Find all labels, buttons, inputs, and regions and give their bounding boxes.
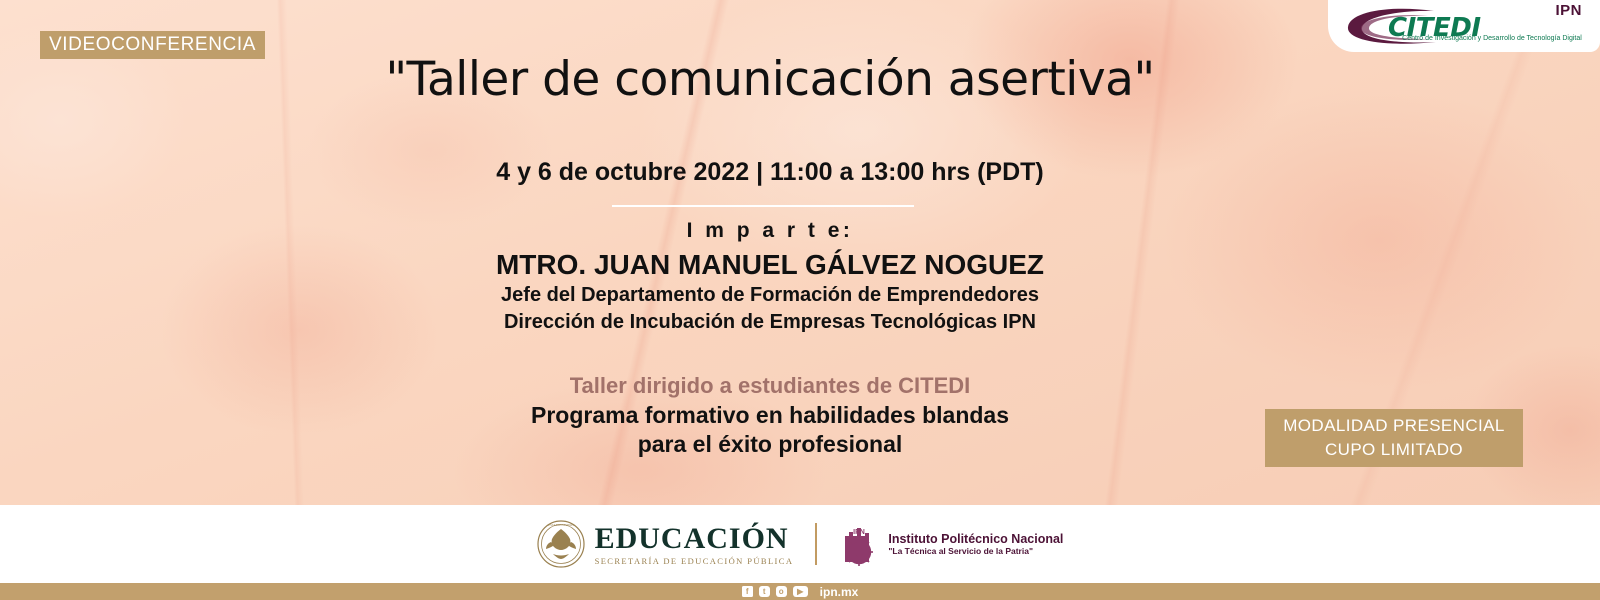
page-title: "Taller de comunicación asertiva" xyxy=(0,52,1540,107)
ipn-logo: IPN Instituto Politécnico Nacional "La T… xyxy=(839,522,1063,566)
youtube-icon[interactable]: ▶ xyxy=(793,586,808,597)
speaker-name: MTRO. JUAN MANUEL GÁLVEZ NOGUEZ xyxy=(0,249,1540,281)
instagram-icon[interactable]: o xyxy=(776,586,787,597)
mexican-eagle-seal-icon: ESTADOS UNIDOS xyxy=(537,520,585,568)
modality-line1: MODALIDAD PRESENCIAL xyxy=(1283,414,1505,438)
twitter-icon[interactable]: t xyxy=(759,586,770,597)
svg-text:IPN: IPN xyxy=(854,529,866,536)
modality-line2: CUPO LIMITADO xyxy=(1325,438,1463,462)
citedi-ipn-label: IPN xyxy=(1555,2,1582,19)
facebook-icon[interactable]: f xyxy=(742,586,753,597)
audience-note: Taller dirigido a estudiantes de CITEDI xyxy=(0,373,1540,399)
sep-subtitle: SECRETARÍA DE EDUCACIÓN PÚBLICA xyxy=(595,556,794,566)
ipn-name: Instituto Politécnico Nacional xyxy=(888,532,1063,546)
citedi-subtitle: Centro de Investigación y Desarrollo de … xyxy=(1392,35,1592,44)
imparte-label: I m p a r t e: xyxy=(0,219,1540,243)
poster-canvas: VIDEOCONFERENCIA IPN CITEDI Centro de In… xyxy=(0,0,1600,600)
sep-logo: ESTADOS UNIDOS EDUCACIÓN SECRETARÍA DE E… xyxy=(537,520,794,568)
section-divider xyxy=(612,205,914,207)
event-datetime: 4 y 6 de octubre 2022 | 11:00 a 13:00 hr… xyxy=(0,158,1540,187)
ipn-crest-icon: IPN xyxy=(839,522,879,566)
citedi-logo-panel: IPN CITEDI Centro de Investigación y Des… xyxy=(1328,0,1600,52)
modality-badge: MODALIDAD PRESENCIAL CUPO LIMITADO xyxy=(1265,409,1523,467)
ipn-website-link[interactable]: ipn.mx xyxy=(820,585,859,599)
speaker-role-line2: Dirección de Incubación de Empresas Tecn… xyxy=(0,311,1540,334)
ipn-motto: "La Técnica al Servicio de la Patria" xyxy=(888,546,1063,557)
institutional-footer: ESTADOS UNIDOS EDUCACIÓN SECRETARÍA DE E… xyxy=(0,505,1600,583)
social-bar: f t o ▶ ipn.mx xyxy=(0,583,1600,600)
citedi-logo: IPN CITEDI Centro de Investigación y Des… xyxy=(1336,2,1594,50)
footer-divider xyxy=(815,523,817,565)
svg-text:ESTADOS UNIDOS: ESTADOS UNIDOS xyxy=(548,523,574,527)
sep-wordmark: EDUCACIÓN xyxy=(595,523,794,555)
speaker-role-line1: Jefe del Departamento de Formación de Em… xyxy=(0,284,1540,307)
